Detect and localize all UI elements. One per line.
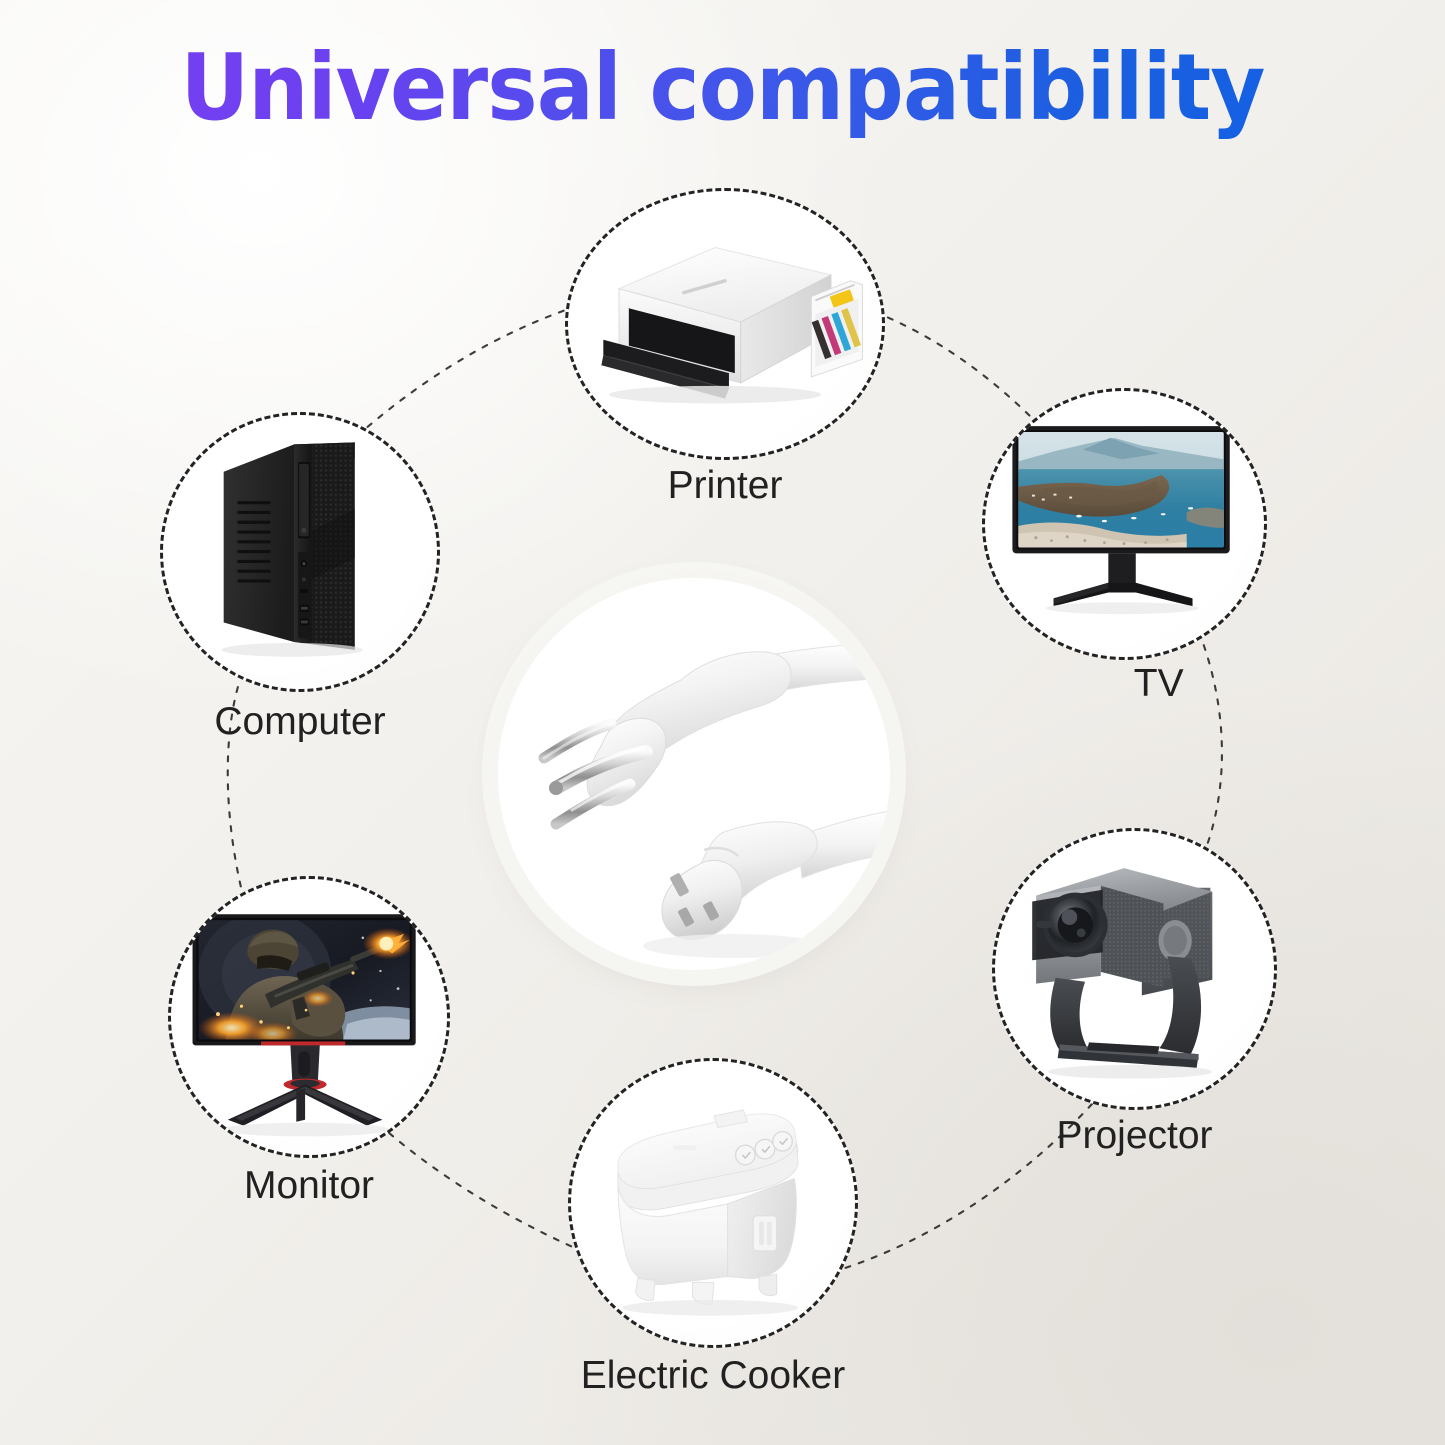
page-title: Universal compatibility xyxy=(58,34,1387,141)
node-monitor[interactable]: Monitor xyxy=(168,876,450,1158)
ink-tank xyxy=(811,281,862,377)
node-tv[interactable]: TV xyxy=(982,388,1267,660)
cooker-bubble xyxy=(568,1058,858,1348)
printer-icon xyxy=(568,188,882,460)
projector-icon xyxy=(995,828,1274,1110)
center-product-disc xyxy=(498,578,890,970)
computer-bubble xyxy=(160,412,440,692)
desktop-tower-icon xyxy=(163,412,437,692)
node-label-computer: Computer xyxy=(214,700,385,744)
node-label-printer: Printer xyxy=(668,464,783,508)
infographic-canvas: Universal compatibility xyxy=(0,0,1445,1445)
printer-bubble xyxy=(565,188,885,460)
node-label-monitor: Monitor xyxy=(244,1164,374,1208)
node-projector[interactable]: Projector xyxy=(992,828,1277,1110)
node-printer[interactable]: Printer xyxy=(565,188,885,460)
tv-icon xyxy=(985,388,1264,660)
power-cord-icon xyxy=(498,578,890,970)
node-cooker[interactable]: Electric Cooker xyxy=(568,1058,858,1348)
node-computer[interactable]: Computer xyxy=(160,412,440,692)
node-label-cooker: Electric Cooker xyxy=(581,1354,845,1398)
node-label-projector: Projector xyxy=(1056,1114,1212,1158)
projector-bubble xyxy=(992,828,1277,1110)
monitor-bubble xyxy=(168,876,450,1158)
node-label-tv: TV xyxy=(1134,662,1184,706)
rice-cooker-icon xyxy=(571,1058,855,1348)
tv-bubble xyxy=(982,388,1267,660)
gaming-monitor-icon xyxy=(171,876,447,1158)
